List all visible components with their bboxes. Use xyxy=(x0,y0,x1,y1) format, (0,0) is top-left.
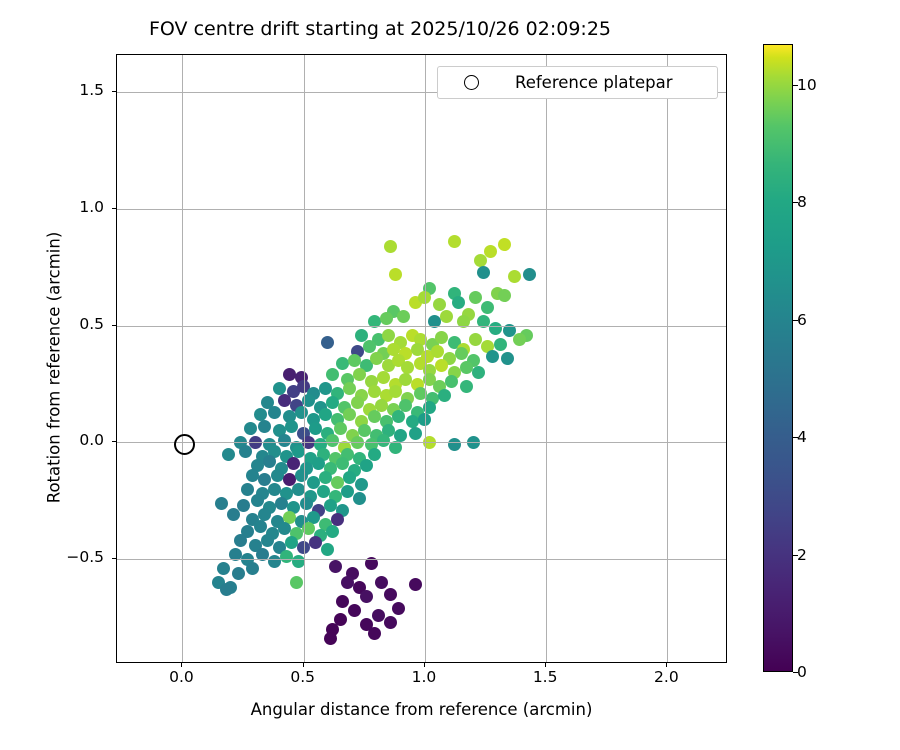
scatter-point xyxy=(319,471,332,484)
x-tick-label: 0.0 xyxy=(169,668,194,686)
scatter-point xyxy=(368,410,381,423)
scatter-point xyxy=(399,373,412,386)
scatter-point xyxy=(312,457,325,470)
scatter-point xyxy=(363,340,376,353)
scatter-point xyxy=(321,336,334,349)
y-axis-label: Rotation from reference (arcmin) xyxy=(45,168,64,568)
x-tick-mark xyxy=(303,663,304,667)
scatter-point xyxy=(384,616,397,629)
x-tick-label: 0.5 xyxy=(290,668,315,686)
y-tick-mark xyxy=(112,441,116,442)
scatter-point xyxy=(469,333,482,346)
scatter-point xyxy=(215,497,228,510)
scatter-point xyxy=(392,410,405,423)
scatter-layer xyxy=(117,55,726,662)
x-tick-label: 2.0 xyxy=(654,668,679,686)
scatter-point xyxy=(469,291,482,304)
scatter-point xyxy=(329,560,342,573)
scatter-point xyxy=(353,368,366,381)
x-axis-label: Angular distance from reference (arcmin) xyxy=(116,700,727,719)
scatter-point xyxy=(343,471,356,484)
scatter-point xyxy=(321,543,334,556)
x-tick-mark xyxy=(666,663,667,667)
scatter-point xyxy=(498,289,511,302)
y-tick-mark xyxy=(112,558,116,559)
scatter-point xyxy=(348,354,361,367)
scatter-point xyxy=(472,366,485,379)
scatter-point xyxy=(263,455,276,468)
gridline-vertical xyxy=(425,55,426,662)
colorbar-tick-label: 10 xyxy=(797,76,817,94)
scatter-point xyxy=(360,590,373,603)
scatter-point xyxy=(368,385,381,398)
scatter-point xyxy=(285,536,298,549)
scatter-point xyxy=(285,420,298,433)
scatter-point xyxy=(392,602,405,615)
colorbar-tick-label: 2 xyxy=(797,546,807,564)
scatter-point xyxy=(448,235,461,248)
scatter-point xyxy=(295,406,308,419)
scatter-point xyxy=(234,534,247,547)
scatter-point xyxy=(336,595,349,608)
scatter-point xyxy=(287,457,300,470)
scatter-point xyxy=(319,408,332,421)
scatter-point xyxy=(377,371,390,384)
gridline-vertical xyxy=(546,55,547,662)
colorbar-tick-label: 0 xyxy=(797,663,807,681)
scatter-point xyxy=(397,310,410,323)
scatter-point xyxy=(268,406,281,419)
scatter-point xyxy=(389,268,402,281)
scatter-point xyxy=(375,576,388,589)
scatter-point xyxy=(336,457,349,470)
scatter-point xyxy=(494,338,507,351)
scatter-point xyxy=(222,448,235,461)
scatter-point xyxy=(324,632,337,645)
scatter-point xyxy=(278,522,291,535)
x-tick-label: 1.5 xyxy=(533,668,558,686)
scatter-point xyxy=(440,310,453,323)
scatter-point xyxy=(380,312,393,325)
scatter-point xyxy=(406,415,419,428)
scatter-point xyxy=(409,578,422,591)
scatter-point xyxy=(319,382,332,395)
scatter-point xyxy=(217,562,230,575)
scatter-point xyxy=(358,424,371,437)
scatter-point xyxy=(382,329,395,342)
colorbar-tick-label: 4 xyxy=(797,428,807,446)
scatter-point xyxy=(283,368,296,381)
x-tick-mark xyxy=(181,663,182,667)
scatter-point xyxy=(246,469,259,482)
scatter-point xyxy=(501,352,514,365)
scatter-point xyxy=(341,576,354,589)
scatter-point xyxy=(513,333,526,346)
scatter-point xyxy=(241,483,254,496)
scatter-point xyxy=(326,434,339,447)
scatter-point xyxy=(331,513,344,526)
scatter-point xyxy=(326,525,339,538)
gridline-vertical xyxy=(304,55,305,662)
x-tick-mark xyxy=(424,663,425,667)
scatter-point xyxy=(254,520,267,533)
colorbar-tick-label: 8 xyxy=(797,193,807,211)
gridline-vertical xyxy=(182,55,183,662)
scatter-point xyxy=(353,492,366,505)
scatter-point xyxy=(317,485,330,498)
scatter-point xyxy=(351,396,364,409)
scatter-point xyxy=(239,445,252,458)
scatter-point xyxy=(372,609,385,622)
scatter-point xyxy=(309,536,322,549)
scatter-point xyxy=(254,408,267,421)
scatter-point xyxy=(295,469,308,482)
scatter-point xyxy=(484,245,497,258)
reference-platepar-marker-icon xyxy=(464,75,479,90)
scatter-point xyxy=(384,588,397,601)
gridline-horizontal xyxy=(117,326,726,327)
gridline-horizontal xyxy=(117,442,726,443)
scatter-point xyxy=(409,427,422,440)
scatter-point xyxy=(389,385,402,398)
scatter-point xyxy=(309,422,322,435)
colorbar-tick-label: 6 xyxy=(797,311,807,329)
scatter-point xyxy=(326,396,339,409)
scatter-point xyxy=(368,448,381,461)
scatter-point xyxy=(489,322,502,335)
scatter-point xyxy=(220,583,233,596)
scatter-point xyxy=(370,352,383,365)
scatter-point xyxy=(523,268,536,281)
scatter-point xyxy=(334,422,347,435)
y-tick-mark xyxy=(112,208,116,209)
y-tick-mark xyxy=(112,325,116,326)
scatter-point xyxy=(460,380,473,393)
scatter-point xyxy=(435,331,448,344)
scatter-point xyxy=(232,567,245,580)
scatter-point xyxy=(348,604,361,617)
chart-title: FOV centre drift starting at 2025/10/26 … xyxy=(0,18,760,40)
scatter-point xyxy=(452,296,465,309)
scatter-point xyxy=(355,478,368,491)
scatter-point xyxy=(275,497,288,510)
gridline-horizontal xyxy=(117,559,726,560)
scatter-point xyxy=(438,389,451,402)
scatter-point xyxy=(481,301,494,314)
scatter-point xyxy=(460,361,473,374)
scatter-point xyxy=(486,350,499,363)
x-tick-mark xyxy=(545,663,546,667)
colorbar xyxy=(763,44,793,672)
scatter-point xyxy=(498,238,511,251)
scatter-point xyxy=(324,499,337,512)
plot-area xyxy=(116,54,727,663)
scatter-point xyxy=(360,459,373,472)
scatter-point xyxy=(251,494,264,507)
scatter-point xyxy=(508,270,521,283)
scatter-point xyxy=(268,555,281,568)
scatter-point xyxy=(268,483,281,496)
scatter-point xyxy=(326,368,339,381)
scatter-point xyxy=(244,422,257,435)
scatter-point xyxy=(445,375,458,388)
legend[interactable]: Reference platepar xyxy=(437,66,718,99)
scatter-point xyxy=(448,438,461,451)
scatter-point xyxy=(278,434,291,447)
scatter-point xyxy=(394,429,407,442)
figure-canvas: FOV centre drift starting at 2025/10/26 … xyxy=(0,0,900,750)
legend-entry-label: Reference platepar xyxy=(515,73,673,92)
scatter-point xyxy=(384,240,397,253)
scatter-point xyxy=(368,627,381,640)
reference-platepar-point xyxy=(174,434,195,455)
scatter-point xyxy=(343,382,356,395)
scatter-point xyxy=(246,562,259,575)
scatter-point xyxy=(280,550,293,563)
scatter-point xyxy=(271,469,284,482)
scatter-point xyxy=(261,534,274,547)
scatter-point xyxy=(278,394,291,407)
gridline-horizontal xyxy=(117,209,726,210)
scatter-point xyxy=(227,508,240,521)
scatter-point xyxy=(477,266,490,279)
scatter-point xyxy=(343,408,356,421)
gridline-vertical xyxy=(667,55,668,662)
scatter-point xyxy=(290,576,303,589)
scatter-point xyxy=(341,485,354,498)
scatter-point xyxy=(435,359,448,372)
scatter-point xyxy=(455,347,468,360)
scatter-point xyxy=(431,345,444,358)
scatter-point xyxy=(377,434,390,447)
y-tick-mark xyxy=(112,91,116,92)
scatter-point xyxy=(300,497,313,510)
x-tick-label: 1.0 xyxy=(412,668,437,686)
scatter-point xyxy=(336,357,349,370)
scatter-point xyxy=(258,420,271,433)
